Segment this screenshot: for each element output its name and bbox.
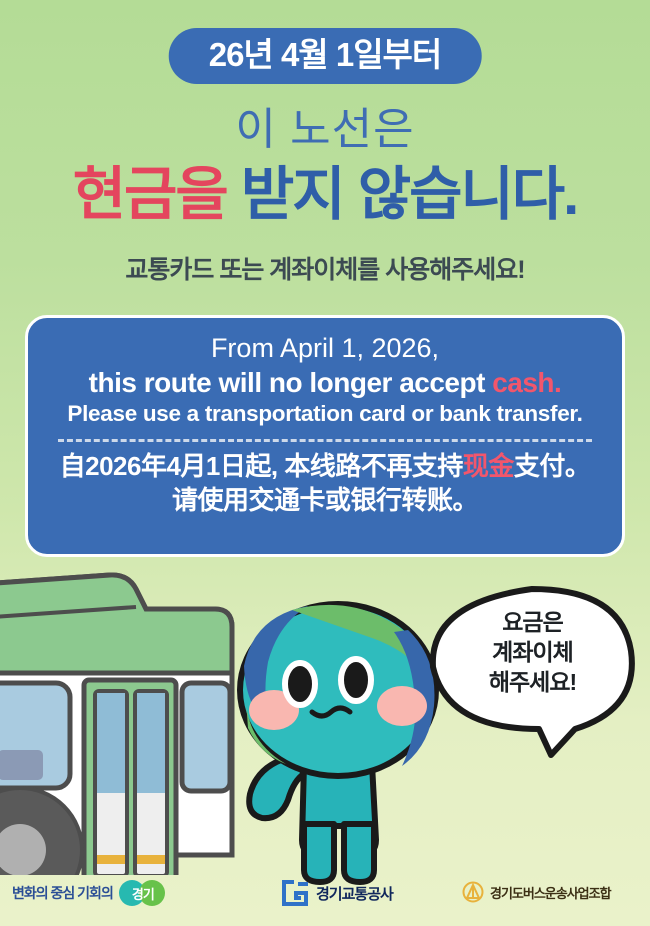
headline-cash-word: 현금을: [73, 162, 227, 227]
info-english-line-3: Please use a transportation card or bank…: [46, 399, 604, 429]
gtc-mark-icon: [282, 880, 310, 906]
info-english-line-1: From April 1, 2026,: [46, 332, 604, 366]
gyeonggi-badge-icon: 경기: [119, 880, 167, 906]
info-chinese-line-1: 自2026年4月1日起, 本线路不再支持现金支付。: [46, 450, 604, 484]
gyeonggi-slogan-text: 변화의 중심 기회의: [12, 883, 113, 903]
headline-rest: 받지 않습니다.: [227, 162, 578, 227]
info-chinese-line-2: 请使用交通卡或银行转账。: [46, 484, 604, 518]
gyeonggi-bus-association-logo: 경기도버스운송사업조합: [462, 881, 611, 903]
info-chinese-cash-word: 现金: [463, 451, 514, 481]
info-english-cash-word: cash.: [492, 367, 561, 398]
info-chinese-line-1-b: 支付。: [514, 451, 591, 481]
headline-subtitle: 교통카드 또는 계좌이체를 사용해주세요!: [0, 258, 650, 283]
mascot-character: [232, 588, 447, 888]
speech-bubble-line-1: 요금은: [440, 608, 625, 638]
speech-bubble-line-3: 해주세요!: [440, 668, 625, 698]
gyeonggi-badge-label: 경기: [119, 880, 167, 906]
gyeonggi-province-logo: 변화의 중심 기회의 경기: [12, 880, 167, 906]
info-card-divider: [58, 439, 592, 442]
speech-bubble-text: 요금은 계좌이체 해주세요!: [440, 608, 625, 698]
bus-association-mark-icon: [462, 881, 484, 903]
info-card: From April 1, 2026, this route will no l…: [25, 315, 625, 557]
info-english-line-2-text: this route will no longer accept: [89, 367, 493, 398]
poster-root: 26년 4월 1일부터 이 노선은 현금을 받지 않습니다. 교통카드 또는 계…: [0, 0, 650, 926]
info-english-line-2: this route will no longer accept cash.: [46, 366, 604, 400]
info-chinese-line-1-a: 自2026年4月1日起, 本线路不再支持: [60, 451, 463, 481]
speech-bubble-line-2: 계좌이체: [440, 638, 625, 668]
date-pill-badge: 26년 4월 1일부터: [169, 28, 482, 84]
gyeonggi-transportation-corp-logo: 경기교통공사: [282, 880, 393, 906]
gtc-label: 경기교통공사: [316, 883, 393, 904]
bus-illustration: [0, 565, 260, 875]
headline-line-1: 이 노선은: [0, 108, 650, 152]
footer-logos: 변화의 중심 기회의 경기 경기교통공사 경기도버스운송사업조합: [0, 878, 650, 912]
headline-line-2: 현금을 받지 않습니다.: [0, 166, 650, 224]
bus-association-label: 경기도버스운송사업조합: [490, 883, 611, 902]
